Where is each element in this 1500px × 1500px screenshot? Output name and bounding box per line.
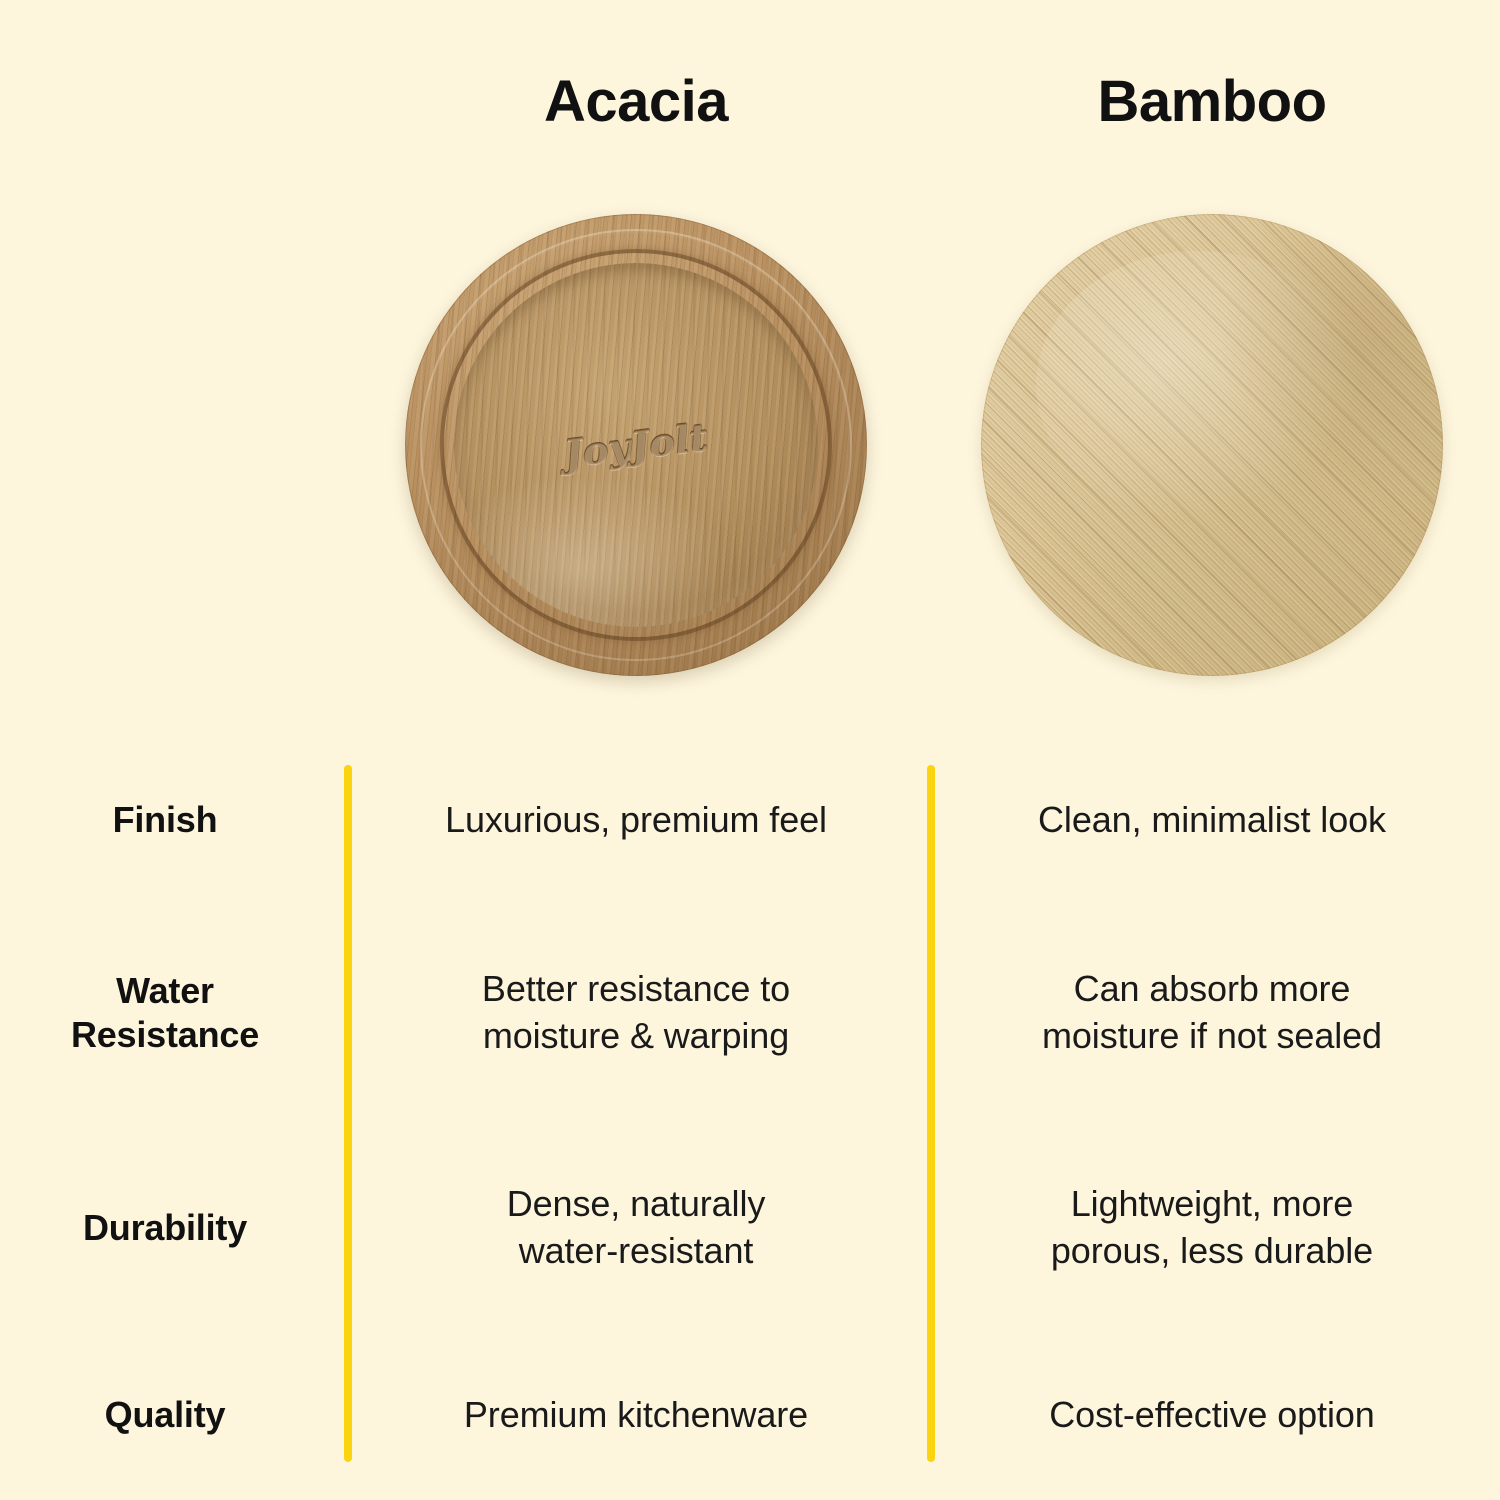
row-label-cell: Water Resistance [0,969,348,1057]
cell-value-text: Better resistance to moisture & warping [482,966,790,1060]
row-label-water-resistance: Water Resistance [71,969,259,1057]
column-header-acacia: Acacia [348,52,924,152]
column-headers: Acacia Bamboo [0,52,1500,152]
header-label-spacer [0,52,348,152]
cell-value-line1: Can absorb more [1074,968,1351,1009]
row-label-finish: Finish [113,798,218,842]
table-row: Water Resistance Better resistance to mo… [0,940,1500,1085]
bamboo-disc-image [981,214,1443,676]
plate-well-sheen [454,474,731,627]
cell-value-text: Clean, minimalist look [1038,797,1386,844]
cell-bamboo-finish: Clean, minimalist look [924,797,1500,844]
cell-value-text: Premium kitchenware [464,1392,808,1439]
column-header-bamboo: Bamboo [924,52,1500,152]
cell-bamboo-durability: Lightweight, more porous, less durable [924,1181,1500,1275]
cell-acacia-quality: Premium kitchenware [348,1392,924,1439]
row-label-cell: Durability [0,1206,348,1250]
cell-value-line2: porous, less durable [1051,1230,1373,1271]
column-title-bamboo: Bamboo [1098,73,1327,131]
cell-value-line1: Dense, naturally [507,1183,766,1224]
row-label-cell: Quality [0,1393,348,1437]
cell-acacia-finish: Luxurious, premium feel [348,797,924,844]
cell-acacia-water-resistance: Better resistance to moisture & warping [348,966,924,1060]
row-label-line2: Resistance [71,1014,259,1055]
cell-value-text: Dense, naturally water-resistant [507,1181,766,1275]
product-images: JoyJolt [0,195,1500,695]
product-label-spacer [0,195,348,695]
cell-value-line1: Better resistance to [482,968,790,1009]
cell-value-text: Luxurious, premium feel [445,797,827,844]
cell-value-line2: moisture if not sealed [1042,1015,1382,1056]
cell-value-line2: water-resistant [519,1230,754,1271]
comparison-table: Finish Luxurious, premium feel Clean, mi… [0,740,1500,1480]
cell-acacia-durability: Dense, naturally water-resistant [348,1181,924,1275]
table-row: Quality Premium kitchenware Cost-effecti… [0,1355,1500,1475]
acacia-plate-image: JoyJolt [405,214,867,676]
cell-value-text: Can absorb more moisture if not sealed [1042,966,1382,1060]
cell-bamboo-water-resistance: Can absorb more moisture if not sealed [924,966,1500,1060]
product-cell-bamboo [924,195,1500,695]
cell-value-line1: Lightweight, more [1071,1183,1353,1224]
cell-value-text: Cost-effective option [1049,1392,1374,1439]
row-label-quality: Quality [105,1393,226,1437]
cell-bamboo-quality: Cost-effective option [924,1392,1500,1439]
table-row: Finish Luxurious, premium feel Clean, mi… [0,760,1500,880]
comparison-infographic: Acacia Bamboo JoyJolt [0,0,1500,1500]
product-cell-acacia: JoyJolt [348,195,924,695]
plate-well [454,263,819,628]
cell-value-line2: moisture & warping [483,1015,789,1056]
row-label-cell: Finish [0,798,348,842]
column-title-acacia: Acacia [544,73,728,131]
cell-value-text: Lightweight, more porous, less durable [1051,1181,1373,1275]
row-label-durability: Durability [83,1206,247,1250]
row-label-line1: Water [116,970,214,1011]
table-row: Durability Dense, naturally water-resist… [0,1155,1500,1300]
